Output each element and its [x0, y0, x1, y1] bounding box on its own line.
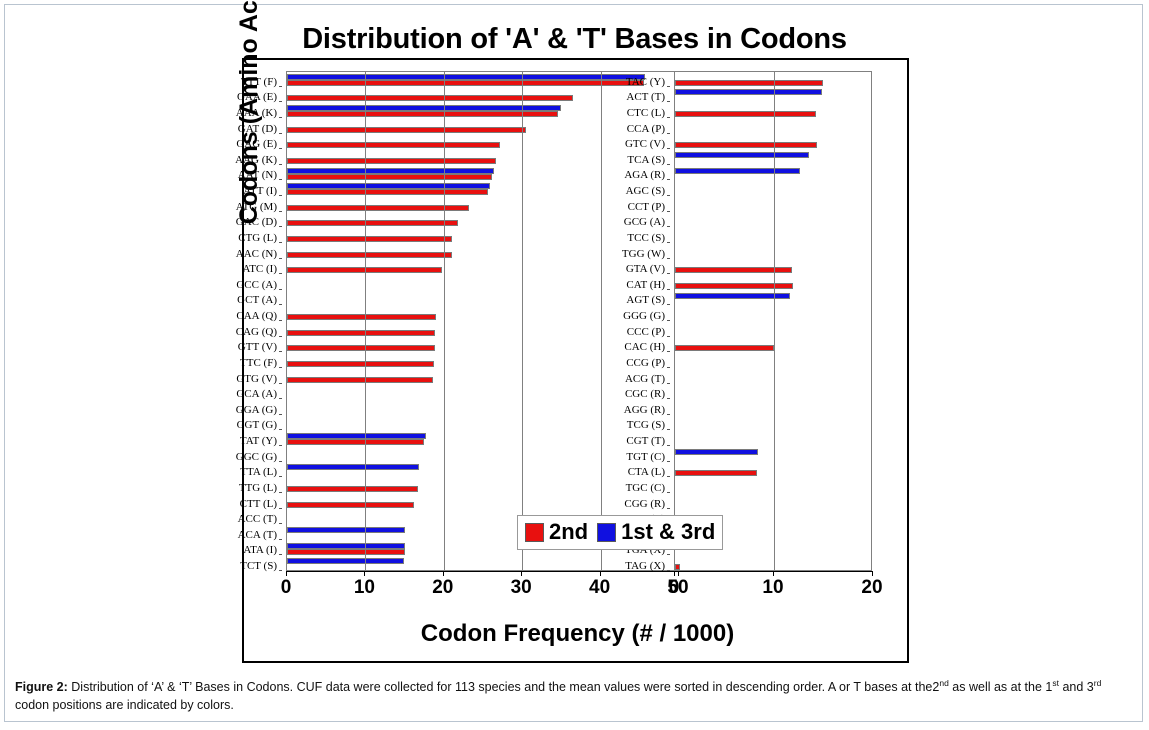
figure-caption: Figure 2: Distribution of ‘A’ & ‘T’ Base… — [15, 677, 1135, 714]
chart-title: Distribution of 'A' & 'T' Bases in Codon… — [5, 23, 1144, 56]
category-label: CCC (P) — [584, 321, 670, 337]
legend-item-1st-3rd: 1st & 3rd — [597, 519, 715, 545]
bar-2nd — [287, 189, 488, 195]
category-label: CGG (R) — [584, 493, 670, 509]
bar-2nd — [287, 127, 526, 133]
bar-2nd — [287, 377, 433, 383]
legend-item-2nd: 2nd — [525, 519, 588, 545]
bar-row — [675, 135, 871, 151]
left-category-labels: TTT (F)GAA (E)AAA (K)GAT (D)GAG (E)AAG (… — [190, 71, 282, 571]
category-label: TTG (L) — [190, 477, 282, 493]
bar-row — [675, 103, 871, 119]
category-label: CCT (P) — [584, 196, 670, 212]
x-tick-label: 10 — [762, 577, 783, 599]
legend-label-2nd: 2nd — [549, 519, 588, 545]
category-label: GTC (V) — [584, 134, 670, 150]
category-label: TTA (L) — [190, 462, 282, 478]
category-label: CTG (L) — [190, 227, 282, 243]
bar-2nd — [675, 564, 680, 570]
bar-1st-3rd — [675, 293, 790, 299]
bar-2nd — [287, 345, 435, 351]
category-label: CAT (H) — [584, 274, 670, 290]
category-label: TAC (Y) — [584, 71, 670, 87]
bar-2nd — [287, 220, 458, 226]
x-tick — [443, 571, 444, 576]
x-tick — [872, 571, 873, 576]
category-label: TCG (S) — [584, 415, 670, 431]
x-tick — [521, 571, 522, 576]
bar-2nd — [287, 142, 500, 148]
bar-row — [675, 494, 871, 510]
category-label: GAT (D) — [190, 118, 282, 134]
x-tick — [773, 571, 774, 576]
bar-row — [675, 88, 871, 104]
category-label: AGG (R) — [584, 399, 670, 415]
category-label: TGG (W) — [584, 243, 670, 259]
category-label-text: TAG (X) — [625, 561, 665, 572]
x-tick-label: 10 — [354, 577, 375, 599]
category-label: AGA (R) — [584, 165, 670, 181]
right-bar-rows — [675, 72, 871, 570]
category-label: AAC (N) — [190, 243, 282, 259]
bar-2nd — [287, 111, 558, 117]
bar-row — [675, 353, 871, 369]
bar-row — [675, 385, 871, 401]
category-label: GGA (G) — [190, 399, 282, 415]
legend-swatch-red-icon — [525, 523, 544, 542]
bar-2nd — [287, 439, 424, 445]
gridline — [522, 72, 523, 570]
bar-row — [675, 150, 871, 166]
bar-row — [675, 275, 871, 291]
bar-row — [675, 244, 871, 260]
bar-row — [675, 416, 871, 432]
x-axis-title: Codon Frequency (# / 1000) — [244, 620, 911, 648]
x-tick-label: 20 — [432, 577, 453, 599]
category-label: TGT (C) — [584, 446, 670, 462]
caption-sup-st: st — [1052, 678, 1059, 688]
category-label: GGT (G) — [190, 415, 282, 431]
x-tick-label: 20 — [861, 577, 882, 599]
bar-2nd — [675, 345, 774, 351]
plot-area: Codons (Amino Acids) Codon Frequency (# … — [242, 58, 909, 663]
right-plot-box — [674, 71, 872, 571]
x-tick — [286, 571, 287, 576]
category-label: CTC (L) — [584, 102, 670, 118]
bar-2nd — [287, 95, 573, 101]
category-label: ATT (I) — [190, 180, 282, 196]
right-category-labels: TAC (Y)ACT (T)CTC (L)CCA (P)GTC (V)TCA (… — [584, 71, 670, 571]
bar-row — [675, 119, 871, 135]
category-label: TAT (Y) — [190, 430, 282, 446]
bar-row — [675, 72, 871, 88]
bar-2nd — [675, 142, 817, 148]
bar-row — [675, 306, 871, 322]
bar-1st-3rd — [675, 449, 758, 455]
category-label: AAG (K) — [190, 149, 282, 165]
gridline — [444, 72, 445, 570]
bar-2nd — [287, 486, 418, 492]
bar-2nd — [287, 158, 496, 164]
x-tick-label: 40 — [589, 577, 610, 599]
category-label: CGC (R) — [584, 384, 670, 400]
bar-2nd — [675, 470, 757, 476]
category-label: CAG (Q) — [190, 321, 282, 337]
category-tick — [667, 570, 670, 571]
category-label-text: TCT (S) — [240, 561, 277, 572]
right-chart-panel: TAC (Y)ACT (T)CTC (L)CCA (P)GTC (V)TCA (… — [674, 71, 872, 571]
category-label: GGC (G) — [190, 446, 282, 462]
bar-1st-3rd — [287, 464, 419, 470]
x-tick — [674, 571, 675, 576]
category-label: TTC (F) — [190, 352, 282, 368]
caption-text-2: as well as at the 1 — [949, 680, 1053, 694]
category-label: ACA (T) — [190, 524, 282, 540]
category-label: CAC (H) — [584, 337, 670, 353]
x-tick — [364, 571, 365, 576]
category-label: ACT (T) — [584, 87, 670, 103]
bar-row — [675, 400, 871, 416]
category-label: ATC (I) — [190, 259, 282, 275]
category-label: GTT (V) — [190, 337, 282, 353]
bar-row — [675, 463, 871, 479]
bar-2nd — [287, 174, 492, 180]
bar-row — [675, 322, 871, 338]
category-label: AGT (S) — [584, 290, 670, 306]
figure-frame: Distribution of 'A' & 'T' Bases in Codon… — [4, 4, 1143, 722]
category-label: TCT (S) — [190, 555, 282, 571]
category-label: GCG (A) — [584, 212, 670, 228]
bar-row — [675, 338, 871, 354]
gridline — [365, 72, 366, 570]
caption-text-3: and 3 — [1059, 680, 1094, 694]
bar-row — [675, 431, 871, 447]
category-label: TAG (X) — [584, 555, 670, 571]
left-x-axis: 01020304050 — [286, 571, 678, 601]
category-label: CGT (T) — [584, 430, 670, 446]
bar-row — [675, 478, 871, 494]
category-label: GTA (V) — [584, 259, 670, 275]
category-label: AGC (S) — [584, 180, 670, 196]
bar-2nd — [287, 549, 405, 555]
bar-row — [675, 166, 871, 182]
category-tick — [279, 570, 282, 571]
gridline — [774, 72, 775, 570]
bar-row — [675, 228, 871, 244]
bar-2nd — [287, 314, 436, 320]
bar-1st-3rd — [675, 152, 809, 158]
bar-row — [675, 447, 871, 463]
category-label: ATG (M) — [190, 196, 282, 212]
category-label: GAG (E) — [190, 134, 282, 150]
caption-figure-label: Figure 2: — [15, 680, 68, 694]
category-label: GCT (A) — [190, 290, 282, 306]
category-label: CAA (Q) — [190, 305, 282, 321]
bar-2nd — [287, 236, 452, 242]
bar-2nd — [287, 502, 414, 508]
bar-row — [675, 369, 871, 385]
category-label: GTG (V) — [190, 368, 282, 384]
category-label: GCC (A) — [190, 274, 282, 290]
caption-sup-nd: nd — [939, 678, 948, 688]
bar-2nd — [287, 205, 469, 211]
bar-1st-3rd — [675, 168, 800, 174]
bar-2nd — [675, 283, 793, 289]
x-tick-label: 0 — [281, 577, 292, 599]
bar-row — [675, 291, 871, 307]
category-label: TCC (S) — [584, 227, 670, 243]
category-label: ACG (T) — [584, 368, 670, 384]
x-tick — [600, 571, 601, 576]
bar-2nd — [675, 80, 823, 86]
bar-1st-3rd — [287, 558, 404, 564]
category-label: GGG (G) — [584, 305, 670, 321]
right-x-axis: 01020 — [674, 571, 872, 601]
category-label: GAA (E) — [190, 87, 282, 103]
caption-text-1: Distribution of ‘A’ & ‘T’ Bases in Codon… — [68, 680, 933, 694]
category-label: TCA (S) — [584, 149, 670, 165]
bar-2nd — [287, 330, 435, 336]
bar-row — [675, 260, 871, 276]
category-label: CTA (L) — [584, 462, 670, 478]
category-label: CCG (P) — [584, 352, 670, 368]
bar-row — [675, 197, 871, 213]
category-label: AAT (N) — [190, 165, 282, 181]
bar-1st-3rd — [287, 527, 405, 533]
category-label: GCA (A) — [190, 384, 282, 400]
category-label: ATA (I) — [190, 540, 282, 556]
x-tick-label: 30 — [511, 577, 532, 599]
bar-row — [675, 181, 871, 197]
bar-2nd — [287, 252, 452, 258]
caption-sup-rd: rd — [1094, 678, 1102, 688]
x-tick-label: 0 — [669, 577, 680, 599]
category-label: CCA (P) — [584, 118, 670, 134]
bar-row — [675, 213, 871, 229]
bar-2nd — [675, 111, 816, 117]
bar-1st-3rd — [675, 89, 822, 95]
category-label: GAC (D) — [190, 212, 282, 228]
legend-label-1st-3rd: 1st & 3rd — [621, 519, 715, 545]
chart-legend: 2nd 1st & 3rd — [517, 515, 723, 550]
bar-row — [675, 556, 871, 571]
category-label: ACC (T) — [190, 509, 282, 525]
category-label: CTT (L) — [190, 493, 282, 509]
legend-swatch-blue-icon — [597, 523, 616, 542]
category-label: TTT (F) — [190, 71, 282, 87]
category-label: AAA (K) — [190, 102, 282, 118]
caption-text-4: codon positions are indicated by colors. — [15, 698, 234, 712]
bar-2nd — [287, 361, 434, 367]
category-label: TGC (C) — [584, 477, 670, 493]
